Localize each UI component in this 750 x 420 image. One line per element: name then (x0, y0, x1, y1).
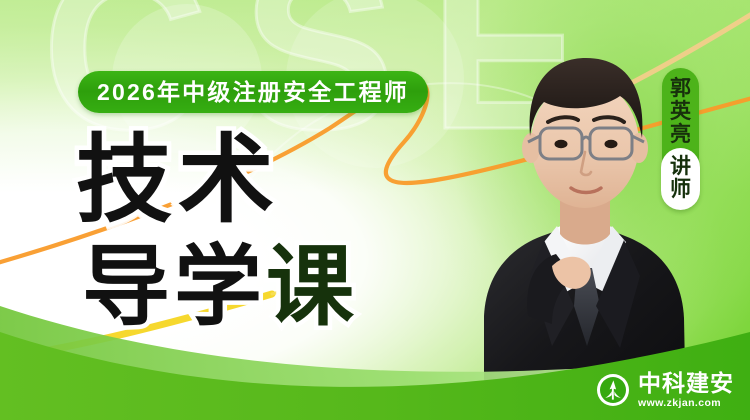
subtitle-part-2: 课 (266, 237, 358, 336)
brand-logo: 中科建安 www.zkjan.com (597, 372, 734, 409)
instructor-role-badge: 讲 师 (661, 148, 700, 210)
brand-logo-text: 中科建安 www.zkjan.com (638, 372, 734, 409)
instructor-name-char-3: 亮 (670, 123, 691, 146)
course-category-badge: 2026年中级注册安全工程师 (78, 71, 428, 113)
instructor-name-char-2: 英 (670, 100, 691, 123)
subtitle-part-1: 导学 (82, 237, 266, 336)
zkjan-arrow-icon-glyph (600, 377, 626, 403)
brand-url: www.zkjan.com (638, 398, 734, 409)
course-category-label: 2026年中级注册安全工程师 (97, 81, 409, 104)
page-subtitle: 导学课 (82, 243, 358, 331)
page-title: 技术 (76, 133, 280, 229)
brand-name: 中科建安 (638, 372, 734, 395)
instructor-role-char-1: 讲 (670, 156, 691, 179)
course-poster: CSE (0, 0, 750, 420)
instructor-name-char-1: 郭 (670, 77, 691, 100)
zkjan-arrow-icon (597, 374, 629, 406)
instructor-role-char-2: 师 (670, 179, 691, 202)
